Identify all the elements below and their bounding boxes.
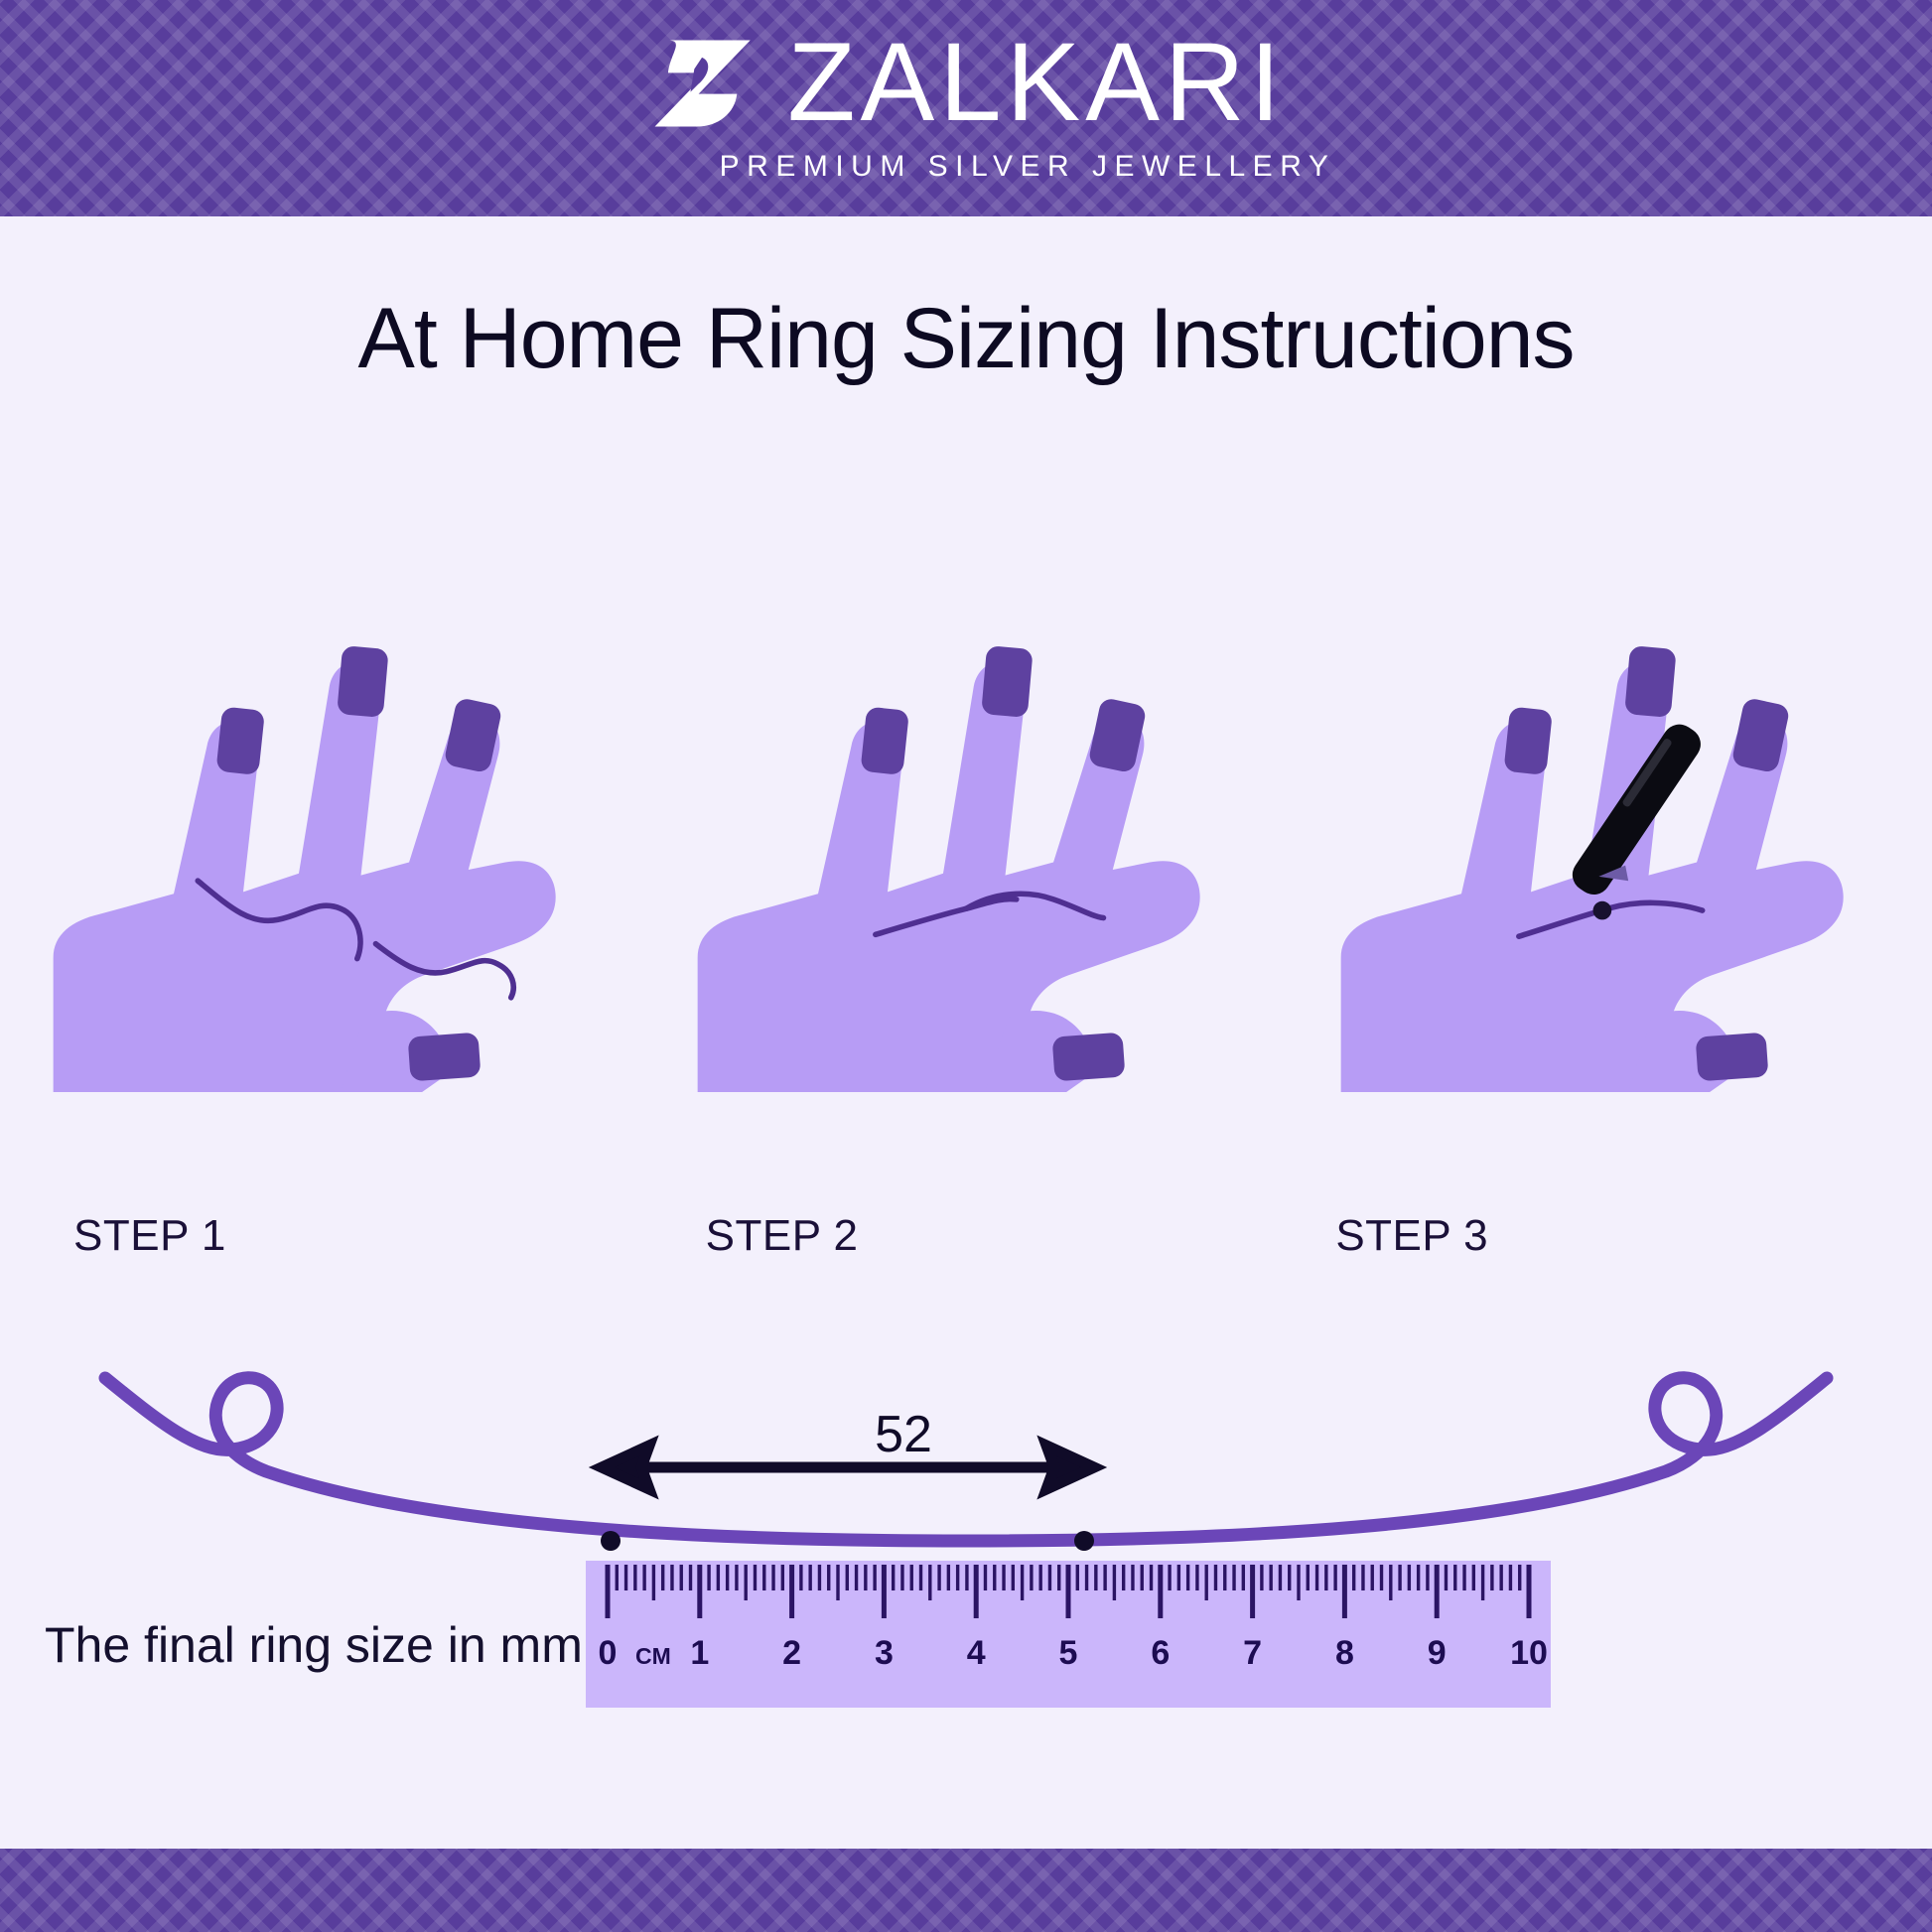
final-size-caption: The final ring size in mm [45,1616,583,1674]
step-2: STEP 2 [644,536,1289,1251]
ruler-tick-1: 1 [690,1634,709,1672]
ruler-tick-0: 0 [599,1634,618,1672]
ruler-tick-8: 8 [1335,1634,1354,1672]
ruler-tick-6: 6 [1151,1634,1170,1672]
hand-with-tightened-string-icon [644,536,1289,1092]
ruler-tick-5: 5 [1059,1634,1078,1672]
string-mark-left [601,1531,621,1551]
ruler-tick-2: 2 [782,1634,801,1672]
brand-logo: ZALKARI PREMIUM SILVER JEWELLERY [597,25,1336,184]
measurement-value: 52 [875,1405,932,1464]
mark-dot [1593,901,1612,920]
brand-header: ZALKARI PREMIUM SILVER JEWELLERY [0,0,1932,216]
page-title: At Home Ring Sizing Instructions [0,290,1932,388]
ruler-tick-7: 7 [1243,1634,1262,1672]
brand-footer [0,1849,1932,1932]
brand-name: ZALKARI [787,30,1286,135]
string-mark-right [1074,1531,1094,1551]
ruler: 012345678910 CM [586,1561,1551,1708]
hand-with-loose-string-icon [0,536,644,1092]
brand-tagline: PREMIUM SILVER JEWELLERY [720,150,1336,184]
ruler-tick-4: 4 [967,1634,986,1672]
steps-row: STEP 1 STEP 2 [0,536,1932,1251]
step-3-label: STEP 3 [1335,1211,1488,1261]
zalkari-z-monogram-icon [646,25,761,140]
ruler-tick-3: 3 [875,1634,894,1672]
ruler-tick-9: 9 [1428,1634,1447,1672]
diamond-lattice-pattern-footer [0,1849,1932,1932]
step-1-label: STEP 1 [73,1211,226,1261]
step-3: STEP 3 [1288,536,1932,1251]
step-1: STEP 1 [0,536,644,1251]
ruler-unit-label: CM [635,1643,671,1669]
step-2-label: STEP 2 [706,1211,859,1261]
measurement-value-label: 52 [0,1405,1932,1464]
hand-with-pen-marking-string-icon [1288,536,1932,1092]
ruler-tick-10: 10 [1510,1634,1548,1672]
